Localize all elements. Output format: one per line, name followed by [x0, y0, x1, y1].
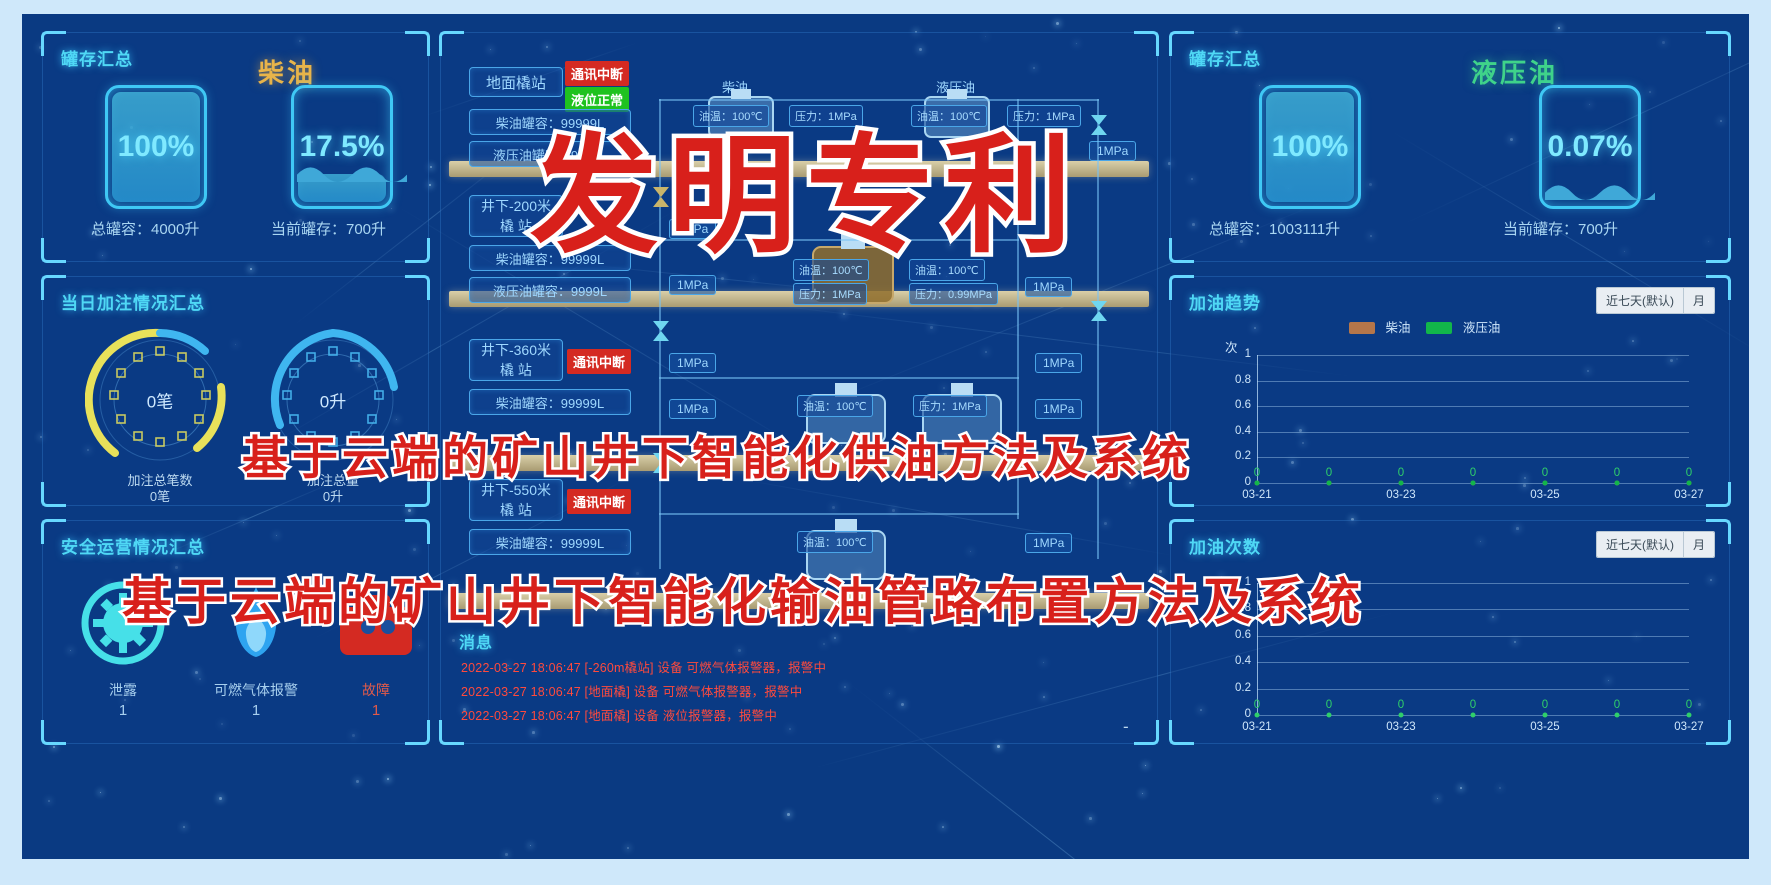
- panel-title-today-refuel: 当日加注情况汇总: [61, 289, 205, 314]
- chart-gridline: [1257, 432, 1689, 433]
- safety-value-leak: 1: [63, 702, 183, 719]
- tank-percent-current-diesel: 17.5%: [294, 130, 390, 164]
- dashboard-board: 罐存汇总 柴油 100% 17.5% 总罐容：4000升 当前罐存：700升 当: [22, 14, 1749, 859]
- gauge-refuel-count: 0笔: [85, 325, 235, 475]
- chart-point-label: 0: [1326, 467, 1332, 479]
- oil-name-hydraulic: 液压油: [1471, 53, 1558, 90]
- safety-label-fault: 故障: [321, 680, 431, 700]
- chart-xtick: 03-23: [1386, 489, 1415, 501]
- panel-hydraulic-stock: 罐存汇总 液压油 100% 0.07% 总罐容：1003111升 当前罐存：70…: [1170, 32, 1730, 262]
- corner-decoration: [405, 275, 430, 300]
- mid-tag-3: 压力：0.99MPa: [909, 283, 998, 305]
- pressure-tag-1: 1MPa: [669, 275, 716, 295]
- chart-point-label: 0: [1254, 699, 1260, 711]
- chart-data-point: [1687, 481, 1692, 486]
- diesel-total-capacity: 总罐容：4000升: [91, 218, 199, 239]
- hyd-total-capacity: 总罐容：1003111升: [1209, 218, 1340, 239]
- chart-xtick: 03-21: [1242, 721, 1271, 733]
- dashboard-screenshot: 罐存汇总 柴油 100% 17.5% 总罐容：4000升 当前罐存：700升 当: [0, 0, 1771, 885]
- chart-point-label: 0: [1686, 699, 1692, 711]
- watermark-headline: 发明专利: [530, 92, 1082, 277]
- hyd-current-stock: 当前罐存：700升: [1503, 218, 1618, 239]
- chart-gridline: [1257, 457, 1689, 458]
- station-3-badge-0: 通讯中断: [567, 489, 631, 514]
- pressure-tag-8: 1MPa: [1025, 533, 1072, 553]
- chart-ytick: 0: [1225, 708, 1251, 720]
- chart-data-point: [1399, 713, 1404, 718]
- mid-tag-4: 油温：100℃: [797, 395, 873, 417]
- chart-gridline: [1257, 406, 1689, 407]
- tank-current-hydraulic: 0.07%: [1539, 85, 1641, 209]
- chart-point-label: 0: [1470, 699, 1476, 711]
- diesel-current-stock: 当前罐存：700升: [271, 218, 386, 239]
- chart-ytick: 0.2: [1225, 682, 1251, 694]
- chart-xtick: 03-21: [1242, 489, 1271, 501]
- chart-gridline: [1257, 689, 1689, 690]
- chart-ytick: 0.8: [1225, 374, 1251, 386]
- chart-point-label: 0: [1614, 467, 1620, 479]
- tank-percent-total-hyd: 100%: [1262, 130, 1358, 164]
- mid-tag-1: 压力：1MPa: [793, 283, 867, 305]
- pressure-tag-4: 1MPa: [1035, 353, 1082, 373]
- gauge-right-label-2: 0升: [323, 489, 343, 504]
- chart-point-label: 0: [1398, 699, 1404, 711]
- chart-point-label: 0: [1470, 467, 1476, 479]
- chart-data-point: [1543, 481, 1548, 486]
- chart-point-label: 0: [1542, 699, 1548, 711]
- gauge-refuel-count-value: 0笔: [85, 388, 235, 413]
- chart-ytick: 1: [1225, 348, 1251, 360]
- safety-value-fault: 1: [321, 702, 431, 719]
- pressure-tag-7: 1MPa: [1025, 277, 1072, 297]
- valve-icon: [1089, 113, 1109, 137]
- safety-label-gas-alarm: 可燃气体报警: [181, 680, 331, 700]
- chart-xtick: 03-27: [1674, 721, 1703, 733]
- station-2-badge-0: 通讯中断: [567, 349, 631, 374]
- corner-decoration: [439, 31, 464, 56]
- chart-ytick: 0.6: [1225, 399, 1251, 411]
- zoom-out-button[interactable]: -: [1123, 717, 1129, 737]
- pressure-tag-5: 1MPa: [1035, 399, 1082, 419]
- wave-icon: [1545, 178, 1655, 200]
- chart-data-point: [1327, 481, 1332, 486]
- station-2-tank-0: 柴油罐容：99999L: [469, 389, 631, 415]
- chart-point-label: 0: [1614, 699, 1620, 711]
- panel-refuel-trend-chart: 加油趋势 近七天(默认) 月 柴油 液压油 次 10.80.60.40.2003…: [1170, 276, 1730, 506]
- chart-point-label: 0: [1398, 467, 1404, 479]
- safety-value-gas-alarm: 1: [181, 702, 331, 719]
- chart-data-point: [1399, 481, 1404, 486]
- chart-ytick: 0.4: [1225, 655, 1251, 667]
- watermark-line-3: 基于云端的矿山井下智能化输油管路布置方法及系统: [122, 562, 1364, 634]
- tank-total-hydraulic: 100%: [1259, 85, 1361, 209]
- message-row: 2022-03-27 18:06:47 [地面橇] 设备 液位报警器，报警中: [461, 705, 777, 724]
- panel-diesel-stock: 罐存汇总 柴油 100% 17.5% 总罐容：4000升 当前罐存：700升: [42, 32, 429, 262]
- chart-1-plot-area: 10.80.60.40.2003-210003-230003-250003-27…: [1171, 277, 1729, 505]
- corner-decoration: [405, 720, 430, 745]
- safety-label-leak: 泄露: [63, 680, 183, 700]
- corner-decoration: [1706, 31, 1731, 56]
- corner-decoration: [41, 238, 66, 263]
- chart-data-point: [1615, 481, 1620, 486]
- chart-ytick: 0.2: [1225, 450, 1251, 462]
- corner-decoration: [1706, 238, 1731, 263]
- corner-decoration: [405, 31, 430, 56]
- message-row: 2022-03-27 18:06:47 [地面橇] 设备 可燃气体报警器，报警中: [461, 681, 802, 700]
- station-3-tank-0: 柴油罐容：99999L: [469, 529, 631, 555]
- chart-xtick: 03-25: [1530, 489, 1559, 501]
- chart-data-point: [1471, 713, 1476, 718]
- chart-point-label: 0: [1326, 699, 1332, 711]
- chart-data-point: [1471, 481, 1476, 486]
- panel-title-hyd-stock: 罐存汇总: [1189, 45, 1261, 70]
- message-row: 2022-03-27 18:06:47 [-260m橇站] 设备 可燃气体报警器…: [461, 657, 826, 676]
- corner-decoration: [41, 482, 66, 507]
- chart-xtick: 03-25: [1530, 721, 1559, 733]
- chart-data-point: [1543, 713, 1548, 718]
- tank-current-diesel: 17.5%: [291, 85, 393, 209]
- chart-point-label: 0: [1542, 467, 1548, 479]
- valve-icon: [651, 319, 671, 343]
- tank-percent-current-hyd: 0.07%: [1542, 130, 1638, 164]
- station-1-tank-1: 液压油罐容：9999L: [469, 277, 631, 303]
- gauge-refuel-volume-value: 0升: [258, 388, 408, 413]
- watermark-line-2: 基于云端的矿山井下智能化供油方法及系统: [242, 422, 1192, 488]
- valve-icon: [1089, 299, 1109, 323]
- chart-point-label: 0: [1254, 467, 1260, 479]
- corner-decoration: [405, 238, 430, 263]
- chart-ytick: 0: [1225, 476, 1251, 488]
- chart-data-point: [1327, 713, 1332, 718]
- corner-decoration: [405, 519, 430, 544]
- chart-gridline: [1257, 636, 1689, 637]
- chart-gridline: [1257, 381, 1689, 382]
- chart-data-point: [1255, 713, 1260, 718]
- pipe-line: [659, 377, 1019, 379]
- chart-data-point: [1255, 481, 1260, 486]
- pipe-line: [1097, 99, 1099, 559]
- chart-yaxis: [1257, 355, 1258, 483]
- pressure-tag-2: 1MPa: [669, 353, 716, 373]
- mid-tag-5: 压力：1MPa: [913, 395, 987, 417]
- chart-point-label: 0: [1686, 467, 1692, 479]
- pipe-line: [659, 513, 1019, 515]
- mid-tag-bottom: 油温：100℃: [797, 531, 873, 553]
- chart-ytick: 0.4: [1225, 425, 1251, 437]
- chart-data-point: [1687, 713, 1692, 718]
- panel-title-diesel-stock: 罐存汇总: [61, 45, 133, 70]
- chart-gridline: [1257, 662, 1689, 663]
- corner-decoration: [1134, 720, 1159, 745]
- station-0-badge-0: 通讯中断: [565, 61, 629, 86]
- gauge-left-label-2: 0笔: [150, 489, 170, 504]
- chart-xtick: 03-27: [1674, 489, 1703, 501]
- chart-data-point: [1615, 713, 1620, 718]
- station-name-2[interactable]: 井下-360米 橇 站: [469, 339, 563, 381]
- chart-gridline: [1257, 355, 1689, 356]
- panel-title-safety: 安全运营情况汇总: [61, 533, 205, 558]
- tank-percent-total-diesel: 100%: [108, 130, 204, 164]
- pressure-tag-3: 1MPa: [669, 399, 716, 419]
- gauge-refuel-count-label: 加注总笔数 0笔: [85, 473, 235, 505]
- tank-total-diesel: 100%: [105, 85, 207, 209]
- chart-xtick: 03-23: [1386, 721, 1415, 733]
- corner-decoration: [1134, 31, 1159, 56]
- corner-decoration: [41, 720, 66, 745]
- gauge-left-label-1: 加注总笔数: [127, 473, 192, 488]
- corner-decoration: [1169, 238, 1194, 263]
